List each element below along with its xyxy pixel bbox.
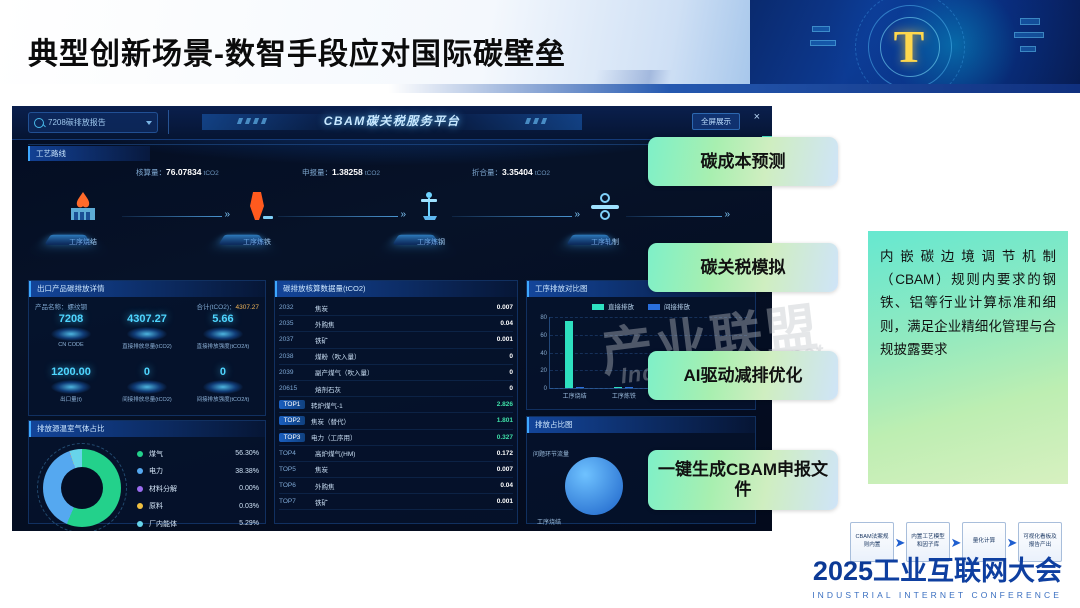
- table-panel-title: 碳排放核算数据量(tCO2): [275, 281, 517, 297]
- row-name: 副产煤气（吹入量）: [309, 367, 509, 377]
- legend-name-3: 原料: [149, 501, 239, 511]
- row-code: TOP1: [279, 400, 305, 409]
- conference-name: 2025工业互联网大会: [812, 549, 1062, 588]
- metric-1-value: 1.38258: [332, 167, 363, 177]
- bar-chart-legend: 直接排放 间接排放: [527, 301, 755, 311]
- row-name: 焦炭（替代）: [305, 416, 497, 426]
- flow-arrow-2: [278, 216, 398, 217]
- legend-dot-0: [137, 451, 143, 457]
- legend-dot-2: [137, 486, 143, 492]
- table-row[interactable]: TOP3电力（工序用）0.327: [279, 430, 513, 446]
- legend-pct-1: 38.38%: [235, 468, 259, 475]
- row-name: 煤粉（吹入量）: [309, 351, 509, 361]
- kpi-disc-2: [203, 327, 243, 341]
- row-code: 2039: [279, 369, 309, 376]
- metric-2-label: 折合量：: [472, 168, 502, 177]
- flow-node-2[interactable]: 工序炼钢: [392, 190, 470, 247]
- ytick-40: 40: [540, 351, 547, 357]
- kpi-item-1: 4307.27 直接排放总量(tCO2): [109, 313, 185, 366]
- kpi-item-5: 0 间接排放强度(tCO2/t): [185, 366, 261, 419]
- metric-0-value: 76.07834: [166, 167, 201, 177]
- row-value: 1.801: [497, 417, 513, 424]
- row-code: 2032: [279, 304, 309, 311]
- flow-node-3[interactable]: 工序轧制: [566, 190, 644, 247]
- row-code: 2037: [279, 336, 309, 343]
- kpi-item-3: 1200.00 出口量(t): [33, 366, 109, 419]
- flow-arrow-3: [452, 216, 572, 217]
- table-row[interactable]: TOP2焦炭（替代）1.801: [279, 413, 513, 429]
- flow-node-0[interactable]: 工序烧结: [44, 190, 122, 247]
- row-value: 0.327: [497, 434, 513, 441]
- legend-dot-4: [137, 521, 143, 527]
- kpi-disc-1: [127, 327, 167, 341]
- emission-table[interactable]: 2032焦炭0.007 2035外购焦0.04 2037铁矿0.001 2038…: [279, 300, 513, 520]
- kpi-label-0: CN CODE: [33, 342, 109, 348]
- row-name: 外购焦: [309, 319, 500, 329]
- metric-0-label: 核算量：: [136, 168, 166, 177]
- bar-group-1: 工序炼铁: [599, 317, 648, 388]
- metric-0: 核算量：76.07834 tCO2: [136, 167, 219, 178]
- legend-name-4: 厂内能体: [149, 519, 239, 529]
- row-value: 0.007: [497, 466, 513, 473]
- chart-legend-swatch-1: [648, 304, 660, 310]
- row-value: 0.04: [500, 320, 513, 327]
- donut-chart: [37, 443, 129, 531]
- callout-ai-emission-optimization[interactable]: AI驱动减排优化: [648, 351, 838, 400]
- metrics-row: 核算量：76.07834 tCO2 申报量：1.38258 tCO2 折合量：3…: [28, 167, 756, 183]
- table-row[interactable]: 2032焦炭0.007: [279, 300, 513, 316]
- donut-panel: 排放源温室气体占比 煤气 56.30% 电力 38.38%: [28, 420, 266, 524]
- legend-pct-3: 0.03%: [239, 503, 259, 510]
- ytick-60: 60: [540, 333, 547, 339]
- banner-bottom-bar: [0, 84, 1080, 93]
- rolling-glyph: [581, 190, 629, 224]
- metric-1-unit: tCO2: [365, 170, 380, 177]
- conference-logo: 2025工业互联网大会 INDUSTRIAL INTERNET CONFEREN…: [812, 549, 1062, 600]
- furnace-glyph: [59, 190, 107, 224]
- row-value: 0: [509, 369, 513, 376]
- kpi-grid: 7208 CN CODE 4307.27 直接排放总量(tCO2) 5.66 直…: [33, 313, 261, 419]
- row-code: 20615: [279, 385, 309, 392]
- row-code: TOP3: [279, 433, 305, 442]
- flow-node-1[interactable]: 工序炼铁: [218, 190, 296, 247]
- kpi-label-4: 间接排放总量(tCO2): [109, 395, 185, 403]
- donut-hole: [61, 467, 103, 509]
- row-value: 0.172: [497, 450, 513, 457]
- row-code: TOP2: [279, 416, 305, 425]
- row-code: 2038: [279, 353, 309, 360]
- kpi-value-0: 7208: [33, 313, 109, 325]
- tech-block-e: [810, 40, 836, 46]
- kpi-disc-4: [127, 380, 167, 394]
- donut-legend: 煤气 56.30% 电力 38.38% 材料分解 0.00% 原料 0.03%: [137, 445, 259, 531]
- page-title: 典型创新场景-数智手段应对国际碳壁垒: [28, 29, 566, 73]
- tech-block-b: [1014, 32, 1044, 38]
- legend-item-2: 材料分解 0.00%: [137, 480, 259, 498]
- emission-table-panel: 碳排放核算数据量(tCO2) 2032焦炭0.007 2035外购焦0.04 2…: [274, 280, 518, 524]
- legend-item-3: 原料 0.03%: [137, 498, 259, 516]
- row-code: TOP5: [279, 466, 309, 473]
- row-name: 焦炭: [309, 303, 497, 313]
- metric-1-label: 申报量：: [302, 168, 332, 177]
- kpi-item-0: 7208 CN CODE: [33, 313, 109, 366]
- kpi-label-2: 直接排放强度(tCO2/t): [185, 342, 261, 350]
- table-row[interactable]: 2035外购焦0.04: [279, 316, 513, 332]
- conference-year: 2025: [813, 556, 873, 586]
- dashboard-title: CBAM碳关税服务平台: [12, 112, 772, 129]
- kpi-panel: 出口产品碳排放详情 产品名称：螺纹钢 合计(tCO2)：4307.27 7208…: [28, 280, 266, 416]
- table-row[interactable]: 2038煤粉（吹入量）0: [279, 349, 513, 365]
- metric-2-unit: tCO2: [535, 170, 550, 177]
- slide-banner: T 典型创新场景-数智手段应对国际碳壁垒: [0, 0, 1080, 93]
- flow-base-3: [566, 235, 613, 245]
- tech-block-d: [812, 26, 830, 32]
- kpi-value-1: 4307.27: [109, 313, 185, 325]
- row-name: 高炉煤气(HM): [309, 448, 497, 458]
- legend-name-0: 煤气: [149, 449, 235, 459]
- row-code: TOP7: [279, 498, 309, 505]
- donut-panel-title: 排放源温室气体占比: [29, 421, 265, 437]
- bar-direct-0[interactable]: [565, 321, 573, 388]
- furnace-icon: [59, 190, 107, 234]
- bubble-series-label: 问题环节流量: [533, 449, 569, 458]
- row-value: 0: [509, 353, 513, 360]
- tab-process-route[interactable]: 工艺路线: [28, 146, 150, 161]
- metric-2: 折合量：3.35404 tCO2: [472, 167, 550, 178]
- rolling-icon: [581, 190, 629, 234]
- row-code: 2035: [279, 320, 309, 327]
- row-value: 0.007: [497, 304, 513, 311]
- chart-legend-label-0: 直接排放: [608, 304, 634, 311]
- kpi-total: 合计(tCO2)：4307.27: [197, 301, 260, 311]
- bar-group-0: 工序烧结: [550, 317, 599, 388]
- table-row[interactable]: TOP7铁矿0.001: [279, 494, 513, 510]
- kpi-panel-title: 出口产品碳排放详情: [29, 281, 265, 297]
- chart-legend-label-1: 间接排放: [664, 304, 690, 311]
- kpi-item-4: 0 间接排放总量(tCO2): [109, 366, 185, 419]
- slide-body: 7208碳排放报告 CBAM碳关税服务平台 全屏展示 × 工艺路线 核算量：76…: [0, 93, 1080, 608]
- bubble-main[interactable]: [565, 457, 623, 515]
- flow-base-0: [44, 235, 91, 245]
- converter-icon: [407, 190, 455, 234]
- close-icon[interactable]: ×: [754, 112, 760, 123]
- bubble-bottom-label: 工序烧结: [537, 517, 561, 526]
- legend-dot-3: [137, 503, 143, 509]
- kpi-label-5: 间接排放强度(tCO2/t): [185, 395, 261, 403]
- bflow-arrow-1-icon: ➤: [950, 536, 962, 549]
- row-name: 铁矿: [309, 335, 497, 345]
- bflow-arrow-2-icon: ➤: [1006, 536, 1018, 549]
- blast-furnace-icon: [233, 190, 281, 234]
- kpi-value-2: 5.66: [185, 313, 261, 325]
- legend-item-0: 煤气 56.30%: [137, 445, 259, 463]
- ytick-20: 20: [540, 368, 547, 374]
- kpi-total-value: 4307.27: [236, 304, 260, 311]
- row-code: TOP4: [279, 450, 309, 457]
- chart-legend-item-0: 直接排放: [592, 301, 634, 311]
- flow-arrow-1: [122, 216, 222, 217]
- row-value: 0.04: [500, 482, 513, 489]
- kpi-product-name: 产品名称：螺纹钢: [35, 301, 87, 311]
- row-name: 焦炭: [309, 464, 497, 474]
- info-description-box: 内嵌碳边境调节机制（CBAM）规则内要求的钢铁、铝等行业计算标准和细则，满足企业…: [868, 231, 1068, 484]
- kpi-disc-5: [203, 380, 243, 394]
- callout-carbon-cost-forecast[interactable]: 碳成本预测: [648, 137, 838, 186]
- tech-block-c: [1020, 46, 1036, 52]
- kpi-subline: 产品名称：螺纹钢 合计(tCO2)：4307.27: [35, 301, 259, 311]
- kpi-disc-3: [51, 380, 91, 394]
- legend-name-2: 材料分解: [149, 484, 239, 494]
- ytick-80: 80: [540, 315, 547, 321]
- callout-carbon-tariff-simulation[interactable]: 碳关税模拟: [648, 243, 838, 292]
- blast-furnace-glyph: [233, 190, 281, 224]
- kpi-label-3: 出口量(t): [33, 395, 109, 403]
- bubble-panel-title: 排放占比图: [527, 417, 755, 433]
- flow-base-2: [392, 235, 439, 245]
- legend-item-4: 厂内能体 5.29%: [137, 515, 259, 531]
- kpi-total-label: 合计(tCO2)：: [197, 304, 236, 311]
- row-value: 0.001: [497, 498, 513, 505]
- kpi-label-1: 直接排放总量(tCO2): [109, 342, 185, 350]
- metric-2-value: 3.35404: [502, 167, 533, 177]
- process-flow: 工序烧结 工序炼铁: [28, 190, 756, 276]
- bar-indirect-0[interactable]: [576, 387, 584, 388]
- table-row[interactable]: TOP4高炉煤气(HM)0.172: [279, 446, 513, 462]
- table-row[interactable]: TOP5焦炭0.007: [279, 462, 513, 478]
- chart-legend-swatch-0: [592, 304, 604, 310]
- table-row[interactable]: TOP6外购焦0.04: [279, 478, 513, 494]
- row-name: 铁矿: [309, 497, 497, 507]
- legend-name-1: 电力: [149, 466, 235, 476]
- tech-block-a: [1020, 18, 1040, 25]
- bar-direct-1[interactable]: [614, 387, 622, 388]
- legend-pct-4: 5.29%: [239, 520, 259, 527]
- row-name: 外购焦: [309, 481, 500, 491]
- metric-0-unit: tCO2: [204, 170, 219, 177]
- row-value: 2.826: [497, 401, 513, 408]
- legend-item-1: 电力 38.38%: [137, 463, 259, 481]
- table-row[interactable]: 2037铁矿0.001: [279, 332, 513, 348]
- kpi-item-2: 5.66 直接排放强度(tCO2/t): [185, 313, 261, 366]
- row-name: 电力（工序用）: [305, 432, 497, 442]
- bar-indirect-1[interactable]: [625, 387, 633, 388]
- converter-glyph: [407, 190, 455, 224]
- row-value: 0.001: [497, 336, 513, 343]
- conference-main-text: 工业互联网大会: [873, 556, 1062, 586]
- legend-pct-2: 0.00%: [239, 485, 259, 492]
- legend-dot-1: [137, 468, 143, 474]
- metric-1: 申报量：1.38258 tCO2: [302, 167, 380, 178]
- callout-generate-cbam-report[interactable]: 一键生成CBAM申报文件: [648, 450, 838, 510]
- t-logo-icon: T: [888, 22, 930, 72]
- flow-base-1: [218, 235, 265, 245]
- kpi-disc-0: [51, 327, 91, 341]
- chart-legend-item-1: 间接排放: [648, 301, 690, 311]
- legend-pct-0: 56.30%: [235, 450, 259, 457]
- row-name: 转炉煤气-1: [305, 400, 497, 410]
- kpi-value-5: 0: [185, 366, 261, 378]
- row-code: TOP6: [279, 482, 309, 489]
- fullscreen-button[interactable]: 全屏展示: [692, 113, 740, 130]
- conference-subtitle: INDUSTRIAL INTERNET CONFERENCE: [812, 590, 1062, 600]
- bflow-arrow-0-icon: ➤: [894, 536, 906, 549]
- table-row[interactable]: 2039副产煤气（吹入量）0: [279, 365, 513, 381]
- kpi-value-4: 0: [109, 366, 185, 378]
- kpi-value-3: 1200.00: [33, 366, 109, 378]
